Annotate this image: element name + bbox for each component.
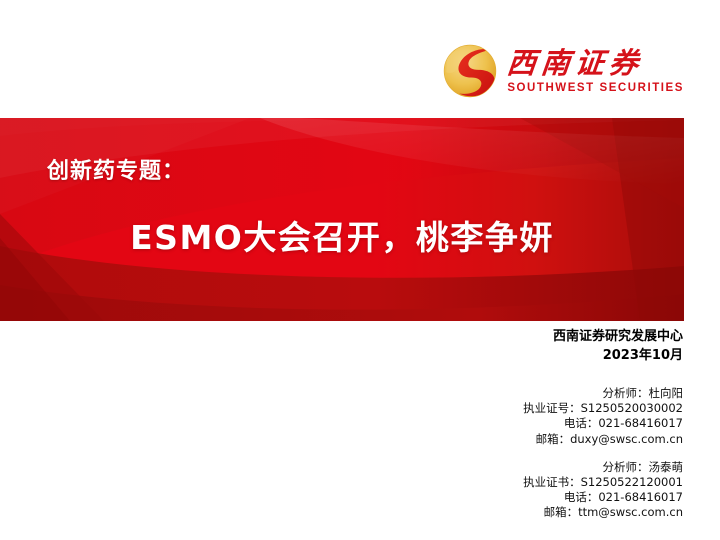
brand-text: 西南证券 SOUTHWEST SECURITIES bbox=[507, 48, 684, 94]
analyst-contacts: 分析师：杜向阳 执业证号：S1250520030002 电话：021-68416… bbox=[523, 386, 683, 521]
brand-logo-block: 西南证券 SOUTHWEST SECURITIES bbox=[443, 44, 684, 98]
brand-name-cn: 西南证券 bbox=[506, 48, 645, 79]
analyst-license-line: 执业证号：S1250520030002 bbox=[523, 401, 683, 416]
title-banner: 创新药专题： ESMO大会召开，桃李争妍 bbox=[0, 118, 684, 321]
analyst-license-line: 执业证书：S1250522120001 bbox=[523, 475, 683, 490]
swsc-sphere-icon bbox=[443, 44, 497, 98]
analyst-entry: 分析师：汤泰萌 执业证书：S1250522120001 电话：021-68416… bbox=[523, 460, 683, 521]
analyst-entry: 分析师：杜向阳 执业证号：S1250520030002 电话：021-68416… bbox=[523, 386, 683, 447]
analyst-name-line: 分析师：杜向阳 bbox=[523, 386, 683, 401]
analyst-name-line: 分析师：汤泰萌 bbox=[523, 460, 683, 475]
analyst-phone-line: 电话：021-68416017 bbox=[523, 490, 683, 505]
banner-kicker: 创新药专题： bbox=[47, 153, 185, 185]
analyst-phone-line: 电话：021-68416017 bbox=[523, 416, 683, 431]
organization-block: 西南证券研究发展中心 2023年10月 bbox=[553, 328, 683, 365]
analyst-email-line: 邮箱：ttm@swsc.com.cn bbox=[523, 505, 683, 520]
brand-name-en: SOUTHWEST SECURITIES bbox=[507, 82, 684, 95]
banner-headline: ESMO大会召开，桃李争妍 bbox=[0, 211, 684, 259]
analyst-email-line: 邮箱：duxy@swsc.com.cn bbox=[523, 432, 683, 447]
banner-text-layer: 创新药专题： ESMO大会召开，桃李争妍 bbox=[0, 118, 684, 321]
publication-date: 2023年10月 bbox=[553, 346, 683, 365]
organization-name: 西南证券研究发展中心 bbox=[553, 328, 683, 346]
